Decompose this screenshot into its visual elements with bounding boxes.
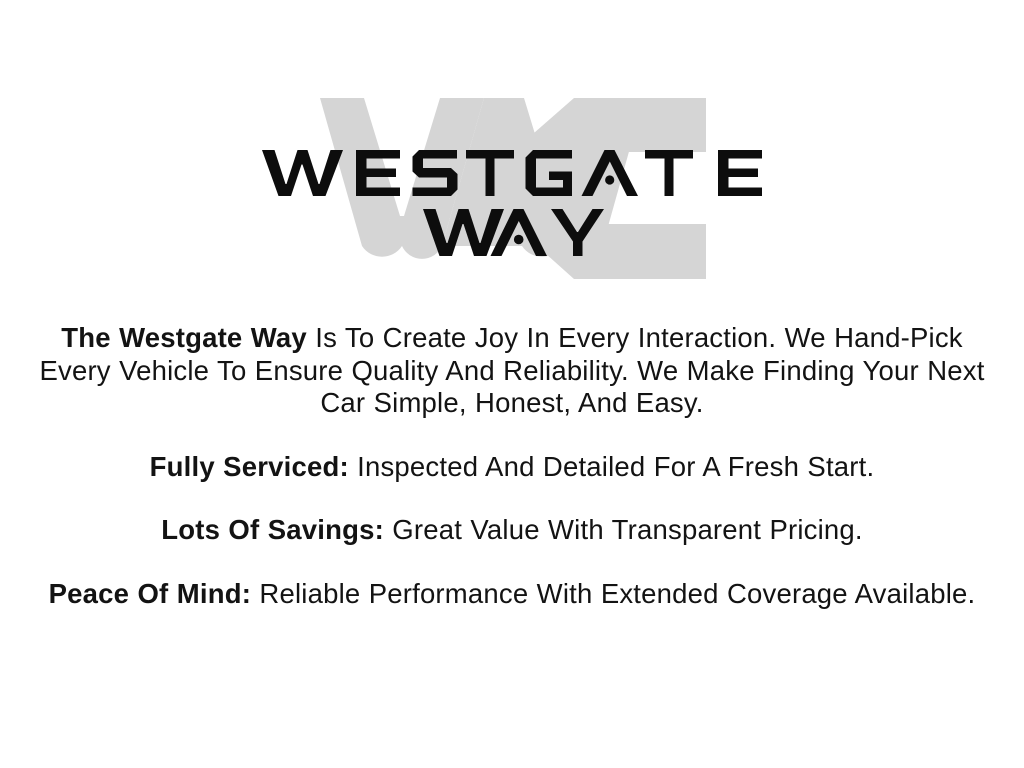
- body-copy: The Westgate Way Is To Create Joy In Eve…: [26, 322, 998, 610]
- paragraph-text: Reliable Performance With Extended Cover…: [251, 578, 975, 609]
- paragraph-text: Inspected And Detailed For A Fresh Start…: [349, 451, 875, 482]
- paragraph-lots-of-savings: Lots Of Savings: Great Value With Transp…: [26, 514, 998, 547]
- paragraph-text: Great Value With Transparent Pricing.: [384, 514, 863, 545]
- paragraph-lead: Lots Of Savings:: [161, 514, 384, 545]
- paragraph-lead: Peace Of Mind:: [49, 578, 251, 609]
- brand-logo-lockup: [0, 96, 1024, 288]
- slide-canvas: The Westgate Way Is To Create Joy In Eve…: [0, 0, 1024, 768]
- westgate-way-wordmark-icon: [0, 96, 1024, 288]
- paragraph-lead: The Westgate Way: [61, 322, 307, 353]
- paragraph-lead: Fully Serviced:: [150, 451, 349, 482]
- paragraph-westgate-way: The Westgate Way Is To Create Joy In Eve…: [26, 322, 998, 420]
- paragraph-peace-of-mind: Peace Of Mind: Reliable Performance With…: [26, 578, 998, 611]
- paragraph-fully-serviced: Fully Serviced: Inspected And Detailed F…: [26, 451, 998, 484]
